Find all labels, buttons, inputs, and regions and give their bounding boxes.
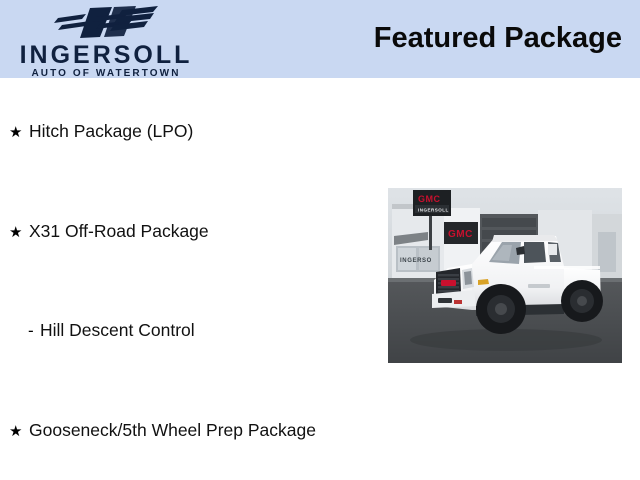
- star-bullet-icon: ★: [9, 123, 29, 143]
- star-bullet-icon: ★: [9, 422, 29, 442]
- brand-wordmark: INGERSOLL: [0, 42, 212, 68]
- list-item-label: X31 Off-Road Package: [29, 221, 209, 241]
- svg-text:GMC: GMC: [418, 194, 441, 204]
- svg-text:GMC: GMC: [448, 229, 473, 240]
- list-item: ★ Gooseneck/5th Wheel Prep Package: [0, 420, 316, 442]
- list-item-label: Gooseneck/5th Wheel Prep Package: [29, 420, 316, 440]
- star-bullet-icon: ★: [9, 223, 29, 243]
- vehicle-photo[interactable]: INGERSO GMC GMC INGERSOLL: [388, 188, 622, 363]
- list-sub-item: - Hill Descent Control: [0, 320, 195, 341]
- list-item: ★ Hitch Package (LPO): [0, 121, 193, 143]
- page-title: Featured Package: [374, 22, 622, 55]
- header-banner: INGERSOLL AUTO OF WATERTOWN Featured Pac…: [0, 0, 640, 78]
- feature-list: ★ Hitch Package (LPO) ★ X31 Off-Road Pac…: [0, 78, 380, 480]
- brand-logo[interactable]: INGERSOLL AUTO OF WATERTOWN: [0, 2, 212, 76]
- list-item: ★ X31 Off-Road Package: [0, 221, 209, 243]
- ingersoll-winged-flag-emblem-icon: [52, 5, 160, 39]
- svg-text:INGERSO: INGERSO: [400, 258, 432, 264]
- svg-text:INGERSOLL: INGERSOLL: [418, 208, 449, 213]
- dash-bullet-icon: -: [28, 321, 40, 341]
- list-item-label: Hitch Package (LPO): [29, 121, 193, 141]
- list-sub-item-label: Hill Descent Control: [40, 320, 195, 340]
